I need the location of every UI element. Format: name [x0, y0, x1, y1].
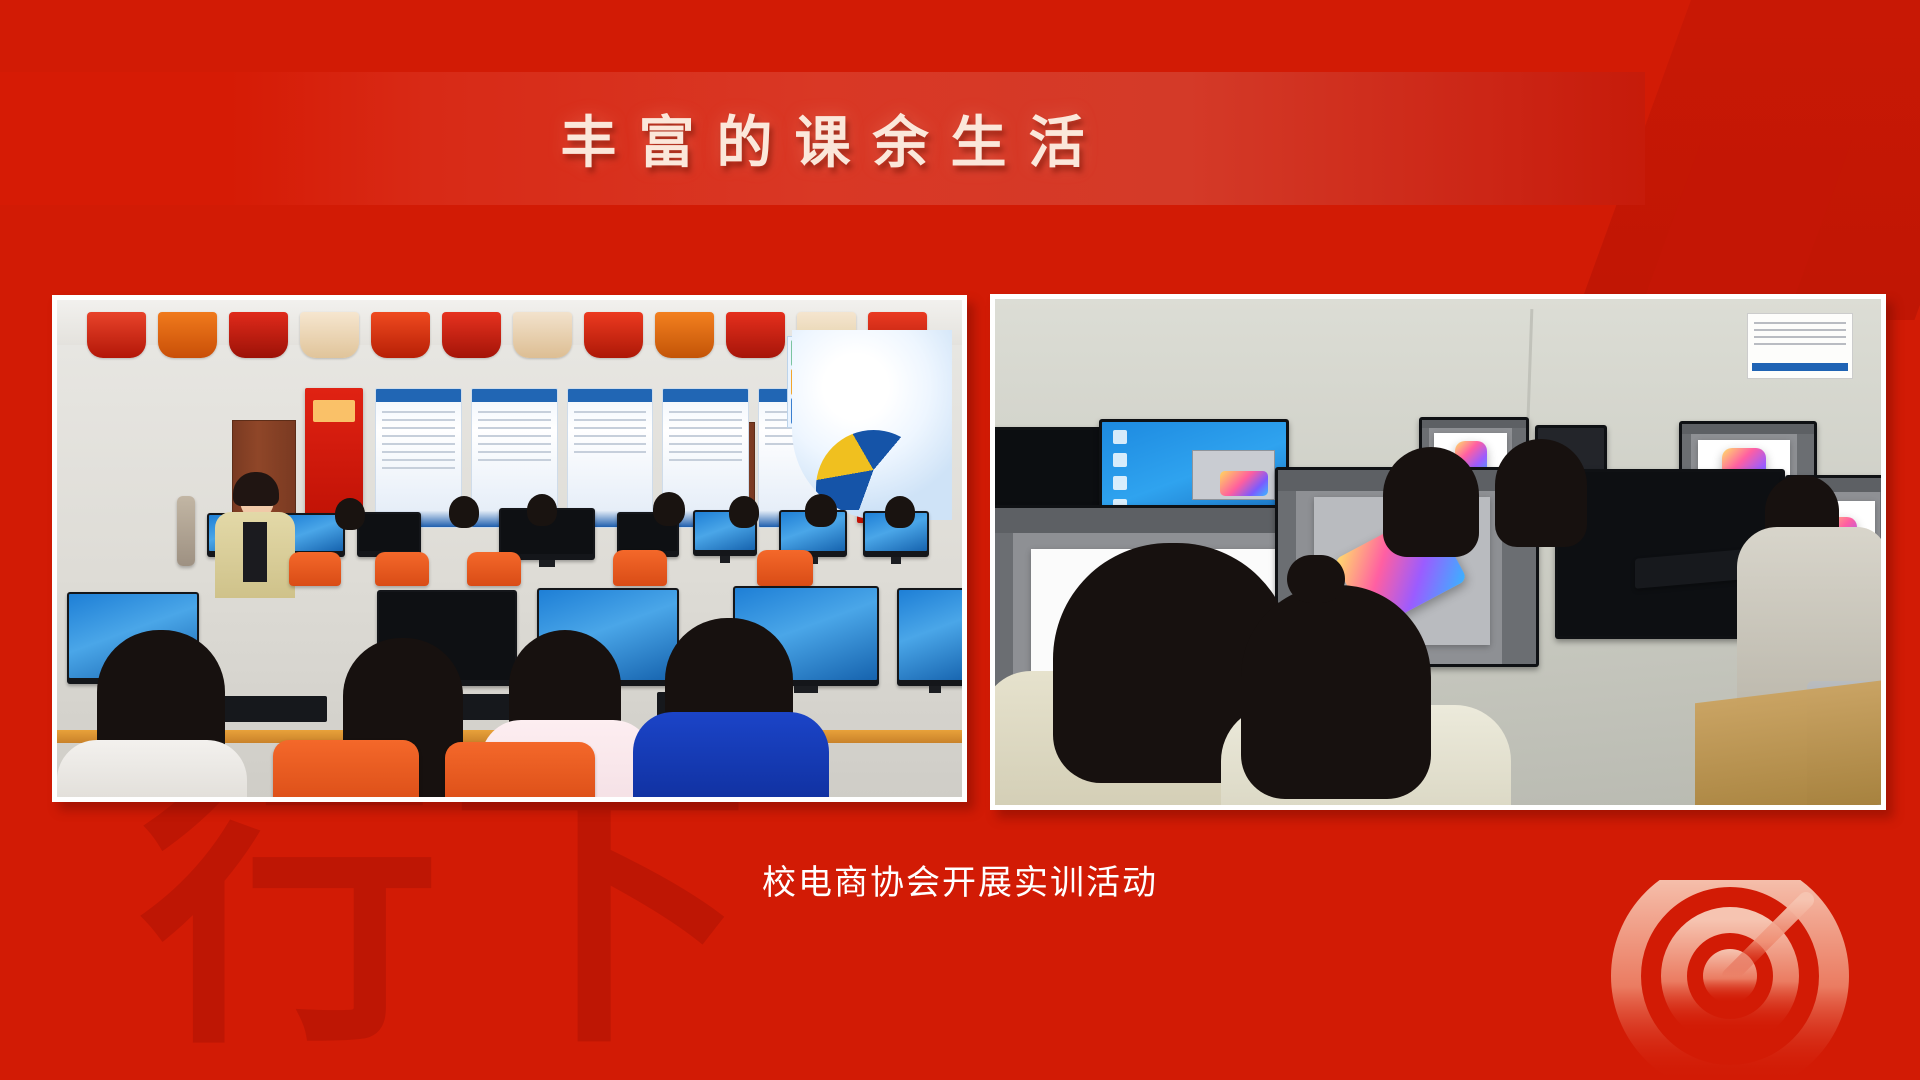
student-coat-right: [1737, 527, 1881, 707]
monitor: [897, 588, 962, 686]
teacher-hair: [233, 472, 279, 506]
concentric-circles-logo: [1600, 880, 1860, 1080]
student-hair-front-right: [1241, 585, 1431, 799]
background-watermark-text: 行下: [140, 760, 760, 1060]
student-head: [653, 492, 685, 526]
stand-pole: [177, 496, 195, 566]
notice-boards: [375, 388, 845, 528]
photo-design-lab[interactable]: [990, 294, 1886, 810]
student-head: [729, 496, 759, 528]
keyboard: [207, 696, 327, 722]
lab-desk-right: [1695, 679, 1881, 805]
slide-root: 行下 丰富的课余生活: [0, 0, 1920, 1080]
photo-caption: 校电商协会开展实训活动: [0, 855, 1920, 904]
chair: [757, 550, 813, 586]
student-coat-white: [57, 740, 247, 797]
student-head: [335, 498, 365, 530]
student-coat-blue: [633, 712, 829, 797]
student-head: [885, 496, 915, 528]
student-head: [527, 494, 557, 526]
chair: [613, 550, 667, 586]
wall-logo-poster: [792, 330, 952, 520]
chair: [289, 552, 341, 586]
student-head: [805, 494, 837, 527]
wall-notice: [1747, 313, 1853, 379]
chair: [375, 552, 429, 586]
design-lab-scene: [995, 299, 1881, 805]
student-ponytail: [1287, 555, 1345, 603]
chair: [467, 552, 521, 586]
photo-classroom[interactable]: [52, 295, 967, 802]
chair-foreground: [273, 740, 419, 797]
student-head-back: [1383, 447, 1479, 557]
chair-foreground: [445, 742, 595, 797]
student-head: [449, 496, 479, 528]
monitor: [357, 512, 421, 557]
page-title: 丰富的课余生活: [0, 72, 1645, 205]
classroom-scene: [57, 300, 962, 797]
student-head-back: [1495, 439, 1587, 547]
teacher-inner-shirt: [243, 522, 267, 582]
